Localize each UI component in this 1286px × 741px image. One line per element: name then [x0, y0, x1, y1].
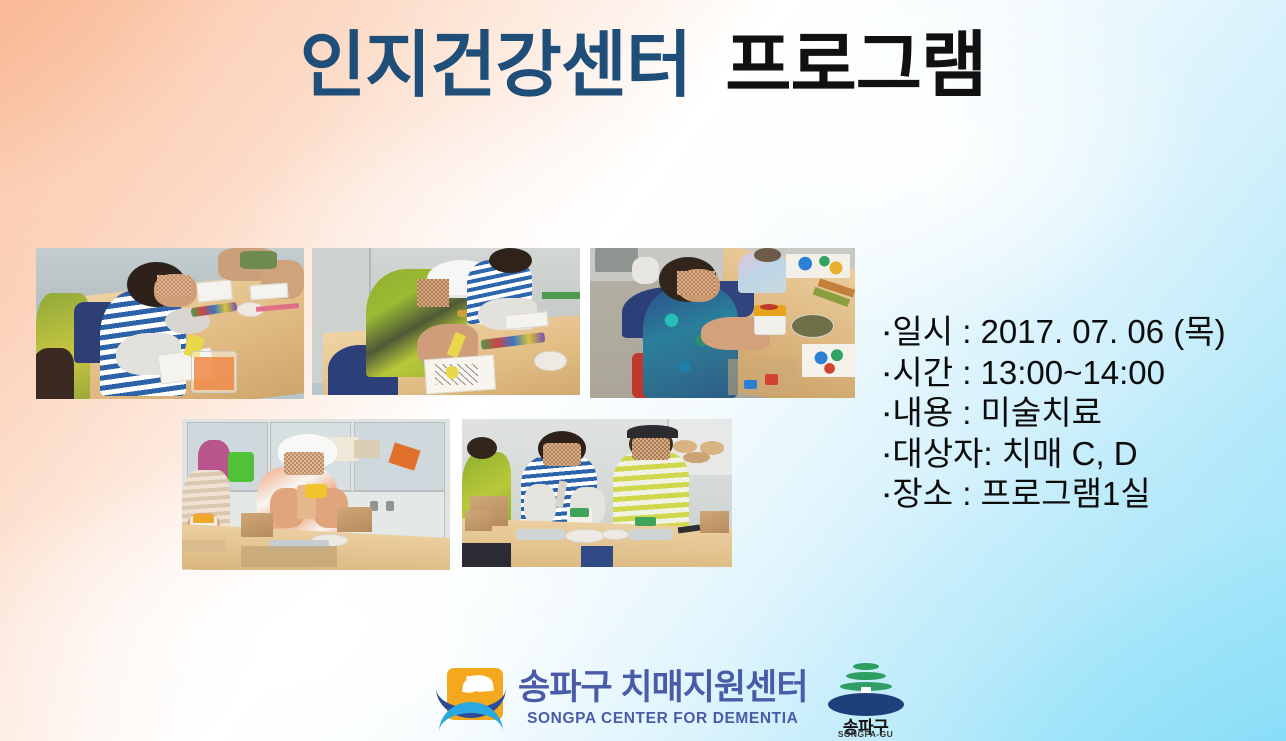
photo-coloring-man-cap — [312, 248, 580, 395]
bullet-icon: ▪ — [884, 326, 889, 341]
songpa-dementia-center-logo-icon — [436, 666, 506, 732]
info-item-place: ▪ 장소 : 프로그램1실 — [884, 474, 1276, 515]
organization-name-en: SONGPA CENTER FOR DEMENTIA — [518, 710, 808, 728]
photo-craft-two-seniors — [462, 419, 732, 567]
info-item-date: ▪ 일시 : 2017. 07. 06 (목) — [884, 312, 1276, 353]
bullet-icon: ▪ — [884, 448, 889, 463]
emblem-tree-top-shape — [853, 663, 879, 670]
footer-branding: 송파구 치매지원센터 SONGPA CENTER FOR DEMENTIA 송파… — [436, 659, 910, 739]
program-info-list: ▪ 일시 : 2017. 07. 06 (목) ▪ 시간 : 13:00~14:… — [884, 312, 1276, 515]
presentation-slide: 인지건강센터프로그램 — [0, 0, 1286, 741]
emblem-label-en: SONGPA-GU — [822, 729, 910, 739]
info-item-time: ▪ 시간 : 13:00~14:00 — [884, 353, 1276, 394]
slide-title-secondary: 프로그램 — [725, 26, 986, 106]
bullet-icon: ▪ — [884, 407, 889, 422]
organization-wordmark: 송파구 치매지원센터 SONGPA CENTER FOR DEMENTIA — [518, 670, 808, 728]
photo-craft-woman-jar — [590, 248, 855, 398]
slide-title-primary: 인지건강센터 — [300, 26, 691, 106]
info-item-content-text: 내용 : 미술치료 — [892, 393, 1102, 434]
photo-coloring-woman — [36, 248, 304, 399]
info-item-target-text: 대상자: 치매 C, D — [892, 434, 1137, 475]
photo-craft-man-cabinet — [182, 419, 450, 570]
bullet-icon: ▪ — [884, 488, 889, 503]
songpa-gu-emblem-icon: 송파구 SONGPA-GU — [822, 661, 910, 737]
info-item-date-text: 일시 : 2017. 07. 06 (목) — [892, 312, 1225, 353]
info-item-time-text: 시간 : 13:00~14:00 — [892, 353, 1165, 394]
bullet-icon: ▪ — [884, 367, 889, 382]
info-item-place-text: 장소 : 프로그램1실 — [892, 474, 1150, 515]
emblem-tree-mid-shape — [846, 672, 886, 680]
slide-title: 인지건강센터프로그램 — [0, 24, 1286, 109]
info-item-content: ▪ 내용 : 미술치료 — [884, 393, 1276, 434]
info-item-target: ▪ 대상자: 치매 C, D — [884, 434, 1276, 475]
organization-name-kr: 송파구 치매지원센터 — [518, 670, 808, 707]
